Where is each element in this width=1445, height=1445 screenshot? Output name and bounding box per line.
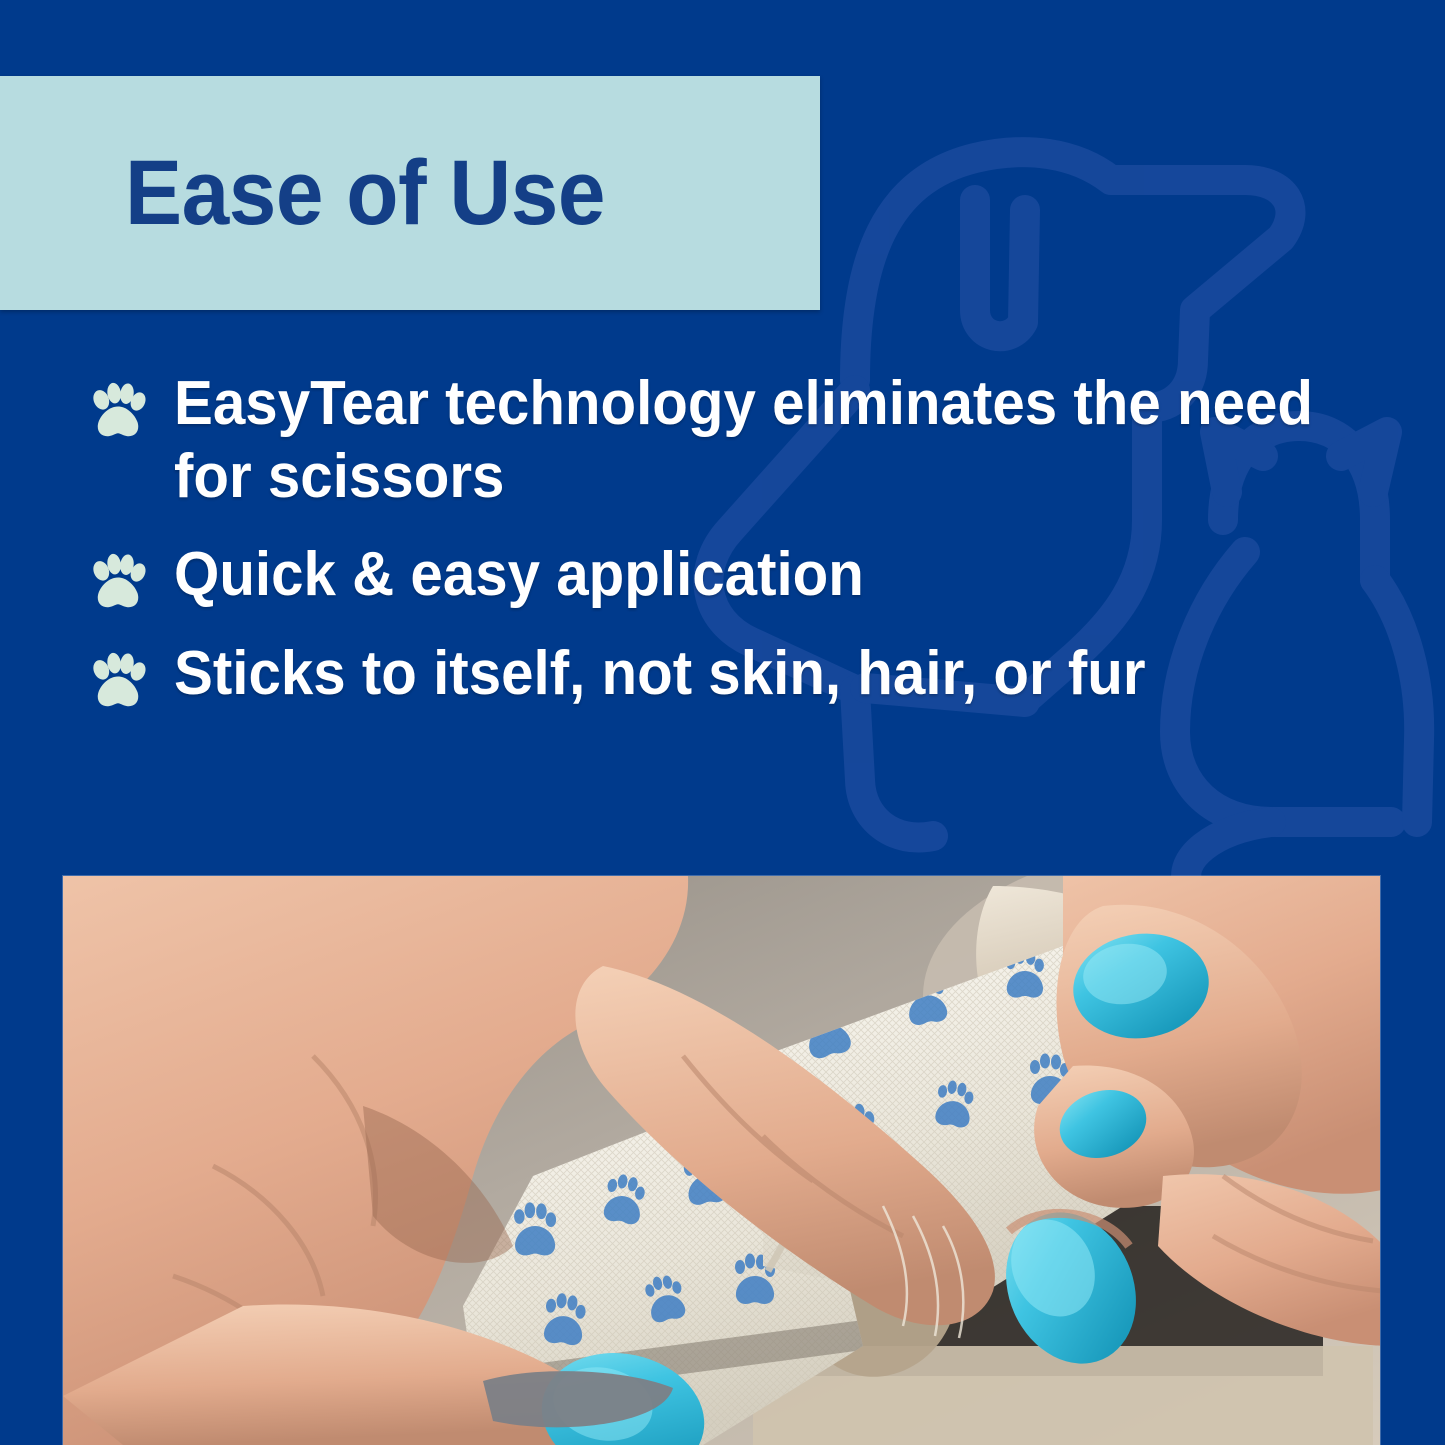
paw-print-icon	[90, 382, 146, 440]
list-item: Quick & easy application	[0, 539, 1400, 612]
product-photo	[63, 876, 1380, 1445]
header-banner: Ease of Use	[0, 76, 820, 310]
feature-bullet-list: EasyTear technology eliminates the need …	[0, 368, 1400, 736]
paw-print-icon	[90, 652, 146, 710]
ease-of-use-poster: Ease of Use EasyTear technology eliminat…	[0, 0, 1445, 1445]
list-item-label: Sticks to itself, not skin, hair, or fur	[174, 638, 1146, 711]
list-item: Sticks to itself, not skin, hair, or fur	[0, 638, 1400, 711]
list-item-label: EasyTear technology eliminates the need …	[174, 368, 1326, 513]
paw-print-icon	[90, 553, 146, 611]
page-title: Ease of Use	[125, 147, 605, 239]
list-item: EasyTear technology eliminates the need …	[0, 368, 1400, 513]
list-item-label: Quick & easy application	[174, 539, 864, 612]
